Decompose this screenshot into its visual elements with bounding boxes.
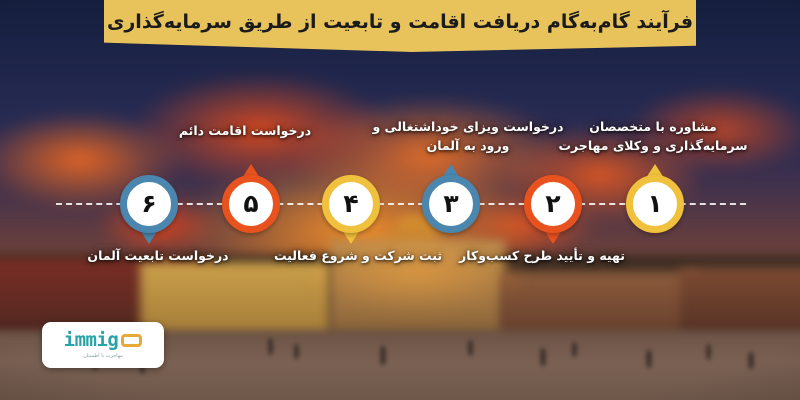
step-number-3: ۳: [443, 191, 458, 216]
timeline-pin-5[interactable]: ۵: [222, 175, 280, 233]
logo-wordmark: immig: [64, 331, 143, 350]
timeline-pin-1[interactable]: ۱: [626, 175, 684, 233]
step-number-5: ۵: [243, 191, 258, 216]
timeline-pin-6[interactable]: ۶: [120, 175, 178, 233]
logo-tagline: مهاجرت با اطمینان: [83, 353, 123, 359]
page-title: فرآیند گام‌به‌گام دریافت اقامت و تابعیت …: [107, 0, 693, 34]
pin-disc: ۱: [626, 175, 684, 233]
pin-disc: ۴: [322, 175, 380, 233]
timeline-pin-2[interactable]: ۲: [524, 175, 582, 233]
step-label-6: درخواست تابعیت آلمان: [68, 247, 248, 266]
pin-disc: ۵: [222, 175, 280, 233]
logo-o-box-icon: [121, 334, 142, 347]
pin-disc: ۳: [422, 175, 480, 233]
logo-text: immig: [64, 331, 119, 350]
pin-disc: ۶: [120, 175, 178, 233]
step-label-2: تهیه و تأیید طرح کسب‌وکار: [452, 247, 632, 266]
step-label-5: درخواست اقامت دائم: [160, 122, 330, 141]
brand-logo[interactable]: immig مهاجرت با اطمینان: [42, 322, 164, 368]
step-number-4: ۴: [343, 191, 358, 216]
step-number-1: ۱: [647, 191, 662, 216]
timeline-pin-3[interactable]: ۳: [422, 175, 480, 233]
step-number-2: ۲: [545, 191, 560, 216]
step-label-4: ثبت شرکت و شروع فعالیت: [268, 247, 448, 266]
step-number-6: ۶: [141, 191, 156, 216]
step-label-3: درخواست ویزای خوداشتغالی و ورود به آلمان: [368, 118, 568, 156]
pin-disc: ۲: [524, 175, 582, 233]
step-label-1: مشاوره با متخصصان سرمایه‌گذاری و وکلای م…: [538, 118, 768, 156]
title-banner: فرآیند گام‌به‌گام دریافت اقامت و تابعیت …: [104, 0, 696, 52]
timeline-pin-4[interactable]: ۴: [322, 175, 380, 233]
infographic-canvas: فرآیند گام‌به‌گام دریافت اقامت و تابعیت …: [0, 0, 800, 400]
